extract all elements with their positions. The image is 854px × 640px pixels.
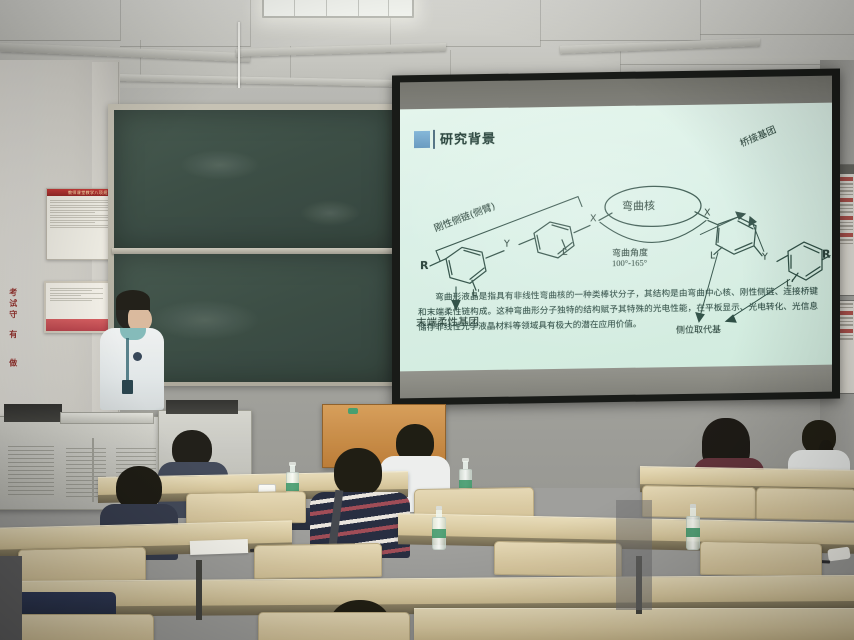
audience-head [334,448,382,496]
poster-framed [44,281,110,333]
classroom-photo: 教师课堂教学八项规定 考试守 有 做 [0,0,854,640]
atom-label-X-left: X [590,213,597,224]
slide-body-paragraph: 弯曲形液晶是指具有非线性弯曲核的一种类棒状分子，其结构是由弯曲中心核、刚性侧链、… [418,285,818,336]
poster-footer-band [46,319,108,331]
blackboard-smudge [180,150,260,180]
atom-label-L-left: L [562,247,567,258]
podium-seam [92,438,94,502]
ceiling-tile [700,0,854,35]
chair-back [254,543,382,579]
water-bottle [432,506,446,550]
chair-back [258,612,410,640]
chair-leg [196,560,202,620]
atom-label-Y-left: Y [504,239,510,250]
lectern-small-object [348,408,358,414]
atom-label-R-right: R [822,248,830,261]
atom-label-L-right: L [710,250,715,261]
podium-vent [8,446,54,498]
blackboard-smudge [150,300,260,340]
presenter-button [133,352,142,361]
ceiling-light-panel [262,0,414,18]
podium-monitor [4,404,62,422]
ceiling-tile [540,0,701,41]
podium-equipment [166,400,238,414]
label-bend-angle-value: 100°-165° [612,258,647,269]
presenter-lanyard [126,338,129,382]
podium-keyboard [60,412,154,424]
atom-label-X-right: X [704,208,711,219]
slide-body-text: 弯曲形液晶是指具有非线性弯曲核的一种类棒状分子，其结构是由弯曲中心核、刚性侧链、… [418,285,818,336]
presenter-shirt [100,328,164,410]
water-bottle [686,504,700,550]
blackboard-smudge [300,200,360,226]
label-bent-core: 弯曲核 [622,197,655,214]
wall-vertical-text-1: 考试守 [6,288,19,321]
atom-label-R-left: R [420,259,428,272]
chair-back [756,487,854,521]
wall-vertical-text-2: 有 做 [6,330,19,375]
floor-aisle-left [0,556,22,640]
chair-back [0,614,154,640]
atom-label-Y-right: Y [762,252,768,263]
presenter-badge [122,380,133,394]
chair-back [700,541,822,577]
floor-aisle-right [616,500,652,610]
tissue [827,547,850,562]
projection-screen: 研究背景 [392,68,840,405]
presentation-slide: 研究背景 [400,103,832,372]
desk-row-1 [414,608,854,640]
ceiling-tile [0,0,121,41]
chair-back [18,547,146,584]
presenter-hair-top [116,290,150,310]
chair-back [494,541,622,577]
notebook [190,539,248,555]
